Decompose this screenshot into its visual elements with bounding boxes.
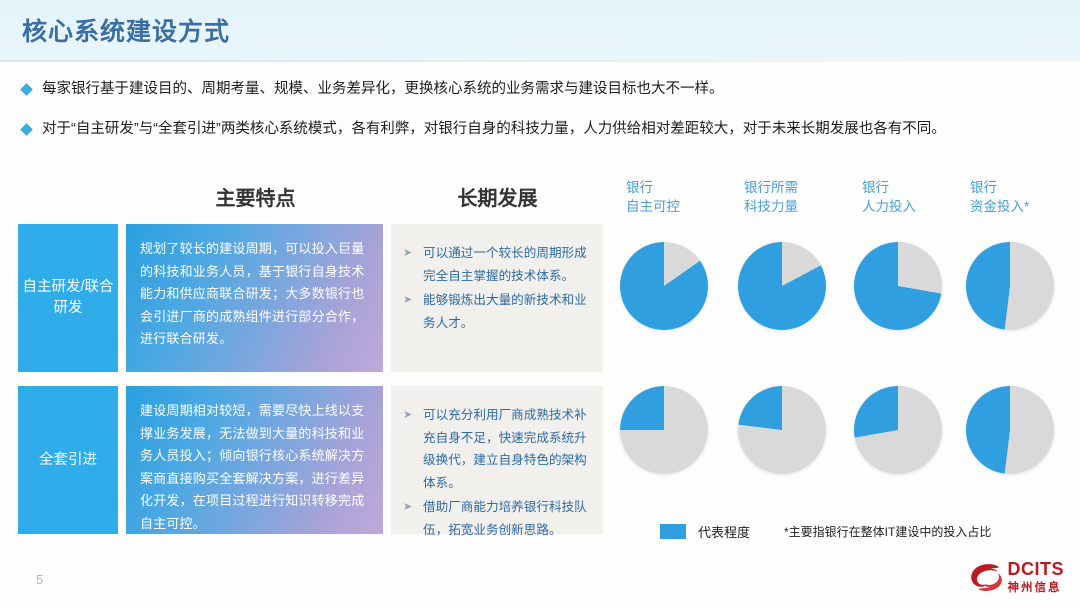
pie-header-line1: 银行: [626, 178, 738, 197]
pie-chart: [966, 242, 1054, 330]
pie-slice-group: [966, 242, 1054, 330]
category-label-self-developed: 自主研发/联合研发: [18, 224, 118, 372]
list-item-text: 可以通过一个较长的周期形成完全自主掌握的技术体系。: [423, 246, 587, 283]
pie-header-manpower: 银行 人力投入: [862, 178, 974, 216]
longterm-list-full-import: ➤ 可以充分利用厂商成熟技术补充自身不足，快速完成系统升级换代，建立自身特色的架…: [391, 386, 603, 534]
pie-chart: [738, 386, 826, 474]
longterm-list-self-developed: ➤ 可以通过一个较长的周期形成完全自主掌握的技术体系。 ➤ 能够锻炼出大量的新技…: [391, 224, 603, 372]
bullet-text: 对于“自主研发”与“全套引进”两类核心系统模式，各有利弊，对银行自身的科技力量，…: [42, 118, 946, 140]
column-header-feature: 主要特点: [128, 182, 383, 211]
bullet-item: 对于“自主研发”与“全套引进”两类核心系统模式，各有利弊，对银行自身的科技力量，…: [0, 112, 1080, 152]
arrow-bullet-icon: ➤: [403, 404, 412, 427]
pie-slice-group: [854, 386, 942, 474]
diamond-bullet-icon: [20, 83, 33, 96]
bullet-list: 每家银行基于建设目的、周期考量、规模、业务差异化，更换核心系统的业务需求与建设目…: [0, 72, 1080, 152]
page-title: 核心系统建设方式: [22, 12, 230, 48]
logo-english: DCITS: [1008, 559, 1065, 579]
arrow-bullet-icon: ➤: [403, 496, 412, 519]
pie-header-autonomy: 银行 自主可控: [626, 178, 738, 216]
bullet-text: 每家银行基于建设目的、周期考量、规模、业务差异化，更换核心系统的业务需求与建设目…: [42, 78, 724, 100]
bullet-item: 每家银行基于建设目的、周期考量、规模、业务差异化，更换核心系统的业务需求与建设目…: [0, 72, 1080, 112]
arrow-bullet-icon: ➤: [403, 289, 412, 312]
arrow-bullet-icon: ➤: [403, 242, 412, 265]
pie-chart: [854, 386, 942, 474]
pie-slice-group: [738, 386, 826, 474]
list-item: ➤ 可以通过一个较长的周期形成完全自主掌握的技术体系。: [399, 242, 593, 287]
feature-text-full-import: 建设周期相对较短，需要尽快上线以支撑业务发展，无法做到大量的科技和业务人员投入；…: [126, 386, 383, 534]
pie-chart-grid: 银行 自主可控 银行所需 科技力量 银行 人力投入 银行 资金投入*: [612, 178, 1080, 538]
pie-slice-group: [966, 386, 1054, 474]
list-item: ➤ 可以充分利用厂商成熟技术补充自身不足，快速完成系统升级换代，建立自身特色的架…: [399, 404, 593, 494]
pie-slice-group: [620, 242, 708, 330]
pie-header-line1: 银行: [970, 178, 1080, 197]
list-item-text: 可以充分利用厂商成熟技术补充自身不足，快速完成系统升级换代，建立自身特色的架构体…: [423, 408, 587, 490]
logo-text: DCITS 神州信息: [1008, 560, 1065, 595]
pie-header-line2: 科技力量: [744, 197, 856, 216]
pie-header-line1: 银行: [862, 178, 974, 197]
list-item: ➤ 能够锻炼出大量的新技术和业务人才。: [399, 289, 593, 334]
company-logo: DCITS 神州信息: [969, 560, 1065, 595]
list-item-text: 能够锻炼出大量的新技术和业务人才。: [423, 293, 587, 330]
pie-header-funding: 银行 资金投入*: [970, 178, 1080, 216]
pie-header-line2: 自主可控: [626, 197, 738, 216]
list-item: ➤ 借助厂商能力培养银行科技队伍，拓宽业务创新思路。: [399, 496, 593, 541]
list-item-text: 借助厂商能力培养银行科技队伍，拓宽业务创新思路。: [423, 500, 587, 537]
comparison-row: 自主研发/联合研发 规划了较长的建设周期，可以投入巨量的科技和业务人员，基于银行…: [0, 224, 610, 372]
legend-swatch: [660, 524, 686, 539]
column-header-longterm: 长期发展: [390, 182, 605, 211]
pie-header-line2: 人力投入: [862, 197, 974, 216]
pie-slice-group: [620, 386, 708, 474]
feature-text-self-developed: 规划了较长的建设周期，可以投入巨量的科技和业务人员，基于银行自身技术能力和供应商…: [126, 224, 383, 372]
pie-chart: [966, 386, 1054, 474]
pie-slice-group: [854, 242, 942, 330]
diamond-bullet-icon: [20, 123, 33, 136]
legend-label: 代表程度: [698, 522, 750, 541]
category-label-full-import: 全套引进: [18, 386, 118, 534]
pie-header-line2: 资金投入*: [970, 197, 1080, 216]
comparison-row: 全套引进 建设周期相对较短，需要尽快上线以支撑业务发展，无法做到大量的科技和业务…: [0, 386, 610, 534]
chart-legend: 代表程度 *主要指银行在整体IT建设中的投入占比: [660, 522, 991, 541]
pie-chart: [620, 386, 708, 474]
logo-chinese: 神州信息: [1008, 582, 1062, 594]
header-divider: [0, 60, 1080, 62]
legend-footnote: *主要指银行在整体IT建设中的投入占比: [784, 523, 991, 540]
pie-slice-group: [738, 242, 826, 330]
page-number: 5: [36, 572, 43, 587]
slide-root: 核心系统建设方式 每家银行基于建设目的、周期考量、规模、业务差异化，更换核心系统…: [0, 0, 1080, 608]
pie-chart: [620, 242, 708, 330]
pie-chart: [854, 242, 942, 330]
pie-header-tech-power: 银行所需 科技力量: [744, 178, 856, 216]
pie-header-line1: 银行所需: [744, 178, 856, 197]
dcits-swirl-icon: [969, 563, 1003, 593]
pie-chart: [738, 242, 826, 330]
